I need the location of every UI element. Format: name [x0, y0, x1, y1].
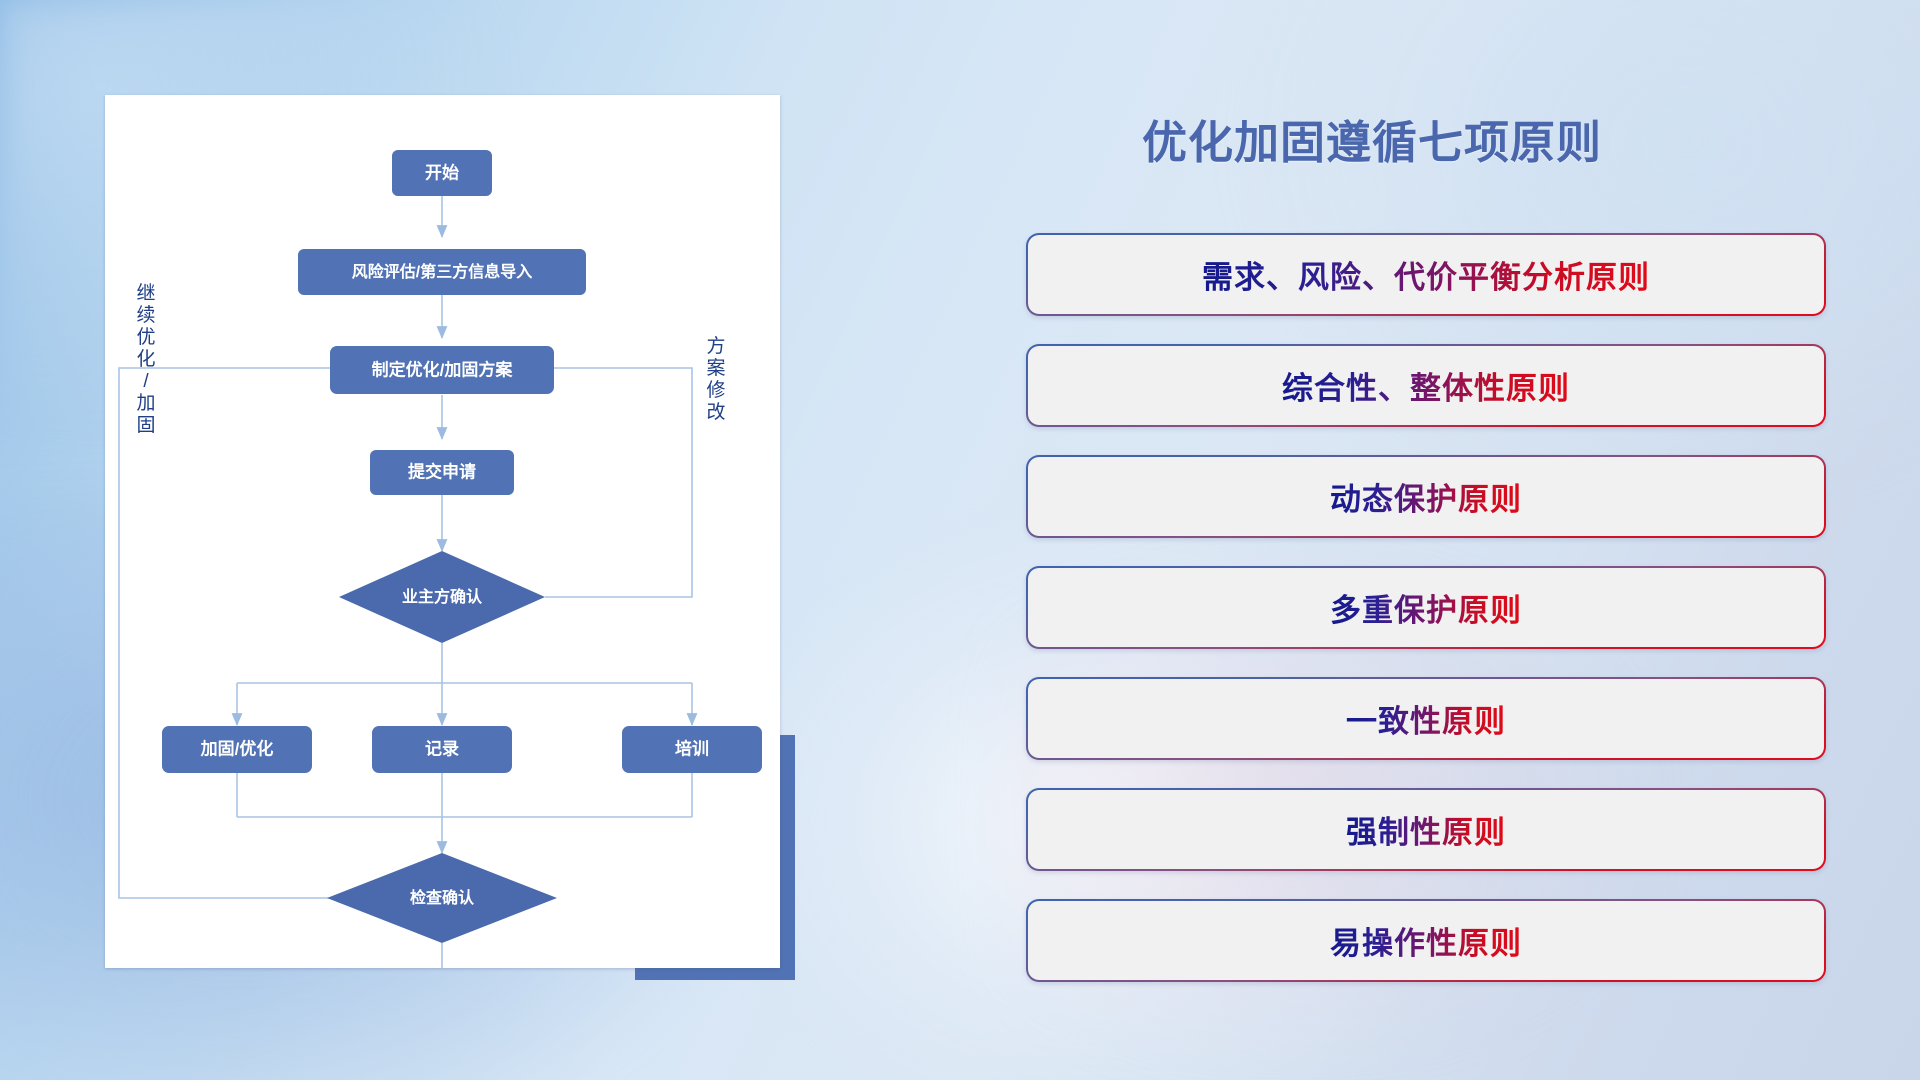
principle-card-7-inner: 易操作性原则 [1028, 901, 1824, 980]
flow-node-start[interactable]: 开始 [392, 150, 492, 196]
principle-card-5-label: 一致性原则 [1346, 696, 1506, 741]
principle-card-5-inner: 一致性原则 [1028, 679, 1824, 758]
principle-card-3-label: 动态保护原则 [1330, 474, 1522, 519]
flow-node-reinforce[interactable]: 加固/优化 [162, 726, 312, 773]
principle-card-4[interactable]: 多重保护原则 [1026, 566, 1826, 649]
flow-node-train[interactable]: 培训 [622, 726, 762, 773]
flow-node-risk[interactable]: 风险评估/第三方信息导入 [298, 249, 586, 295]
flowchart-diagram: 开始 风险评估/第三方信息导入 制定优化/加固方案 提交申请 业主方确认 [105, 95, 780, 968]
flow-connectors [119, 95, 692, 968]
principle-card-1-label: 需求、风险、代价平衡分析原则 [1202, 252, 1650, 297]
principle-card-3[interactable]: 动态保护原则 [1026, 455, 1826, 538]
flow-node-submit-label: 提交申请 [408, 461, 476, 481]
page-title: 优化加固遵循七项原则 [1142, 106, 1602, 171]
principle-card-7[interactable]: 易操作性原则 [1026, 899, 1826, 982]
flowchart-white-card: 开始 风险评估/第三方信息导入 制定优化/加固方案 提交申请 业主方确认 [105, 95, 780, 968]
principle-card-1-inner: 需求、风险、代价平衡分析原则 [1028, 235, 1824, 314]
principle-card-5[interactable]: 一致性原则 [1026, 677, 1826, 760]
principle-card-7-label: 易操作性原则 [1330, 918, 1522, 963]
flow-node-start-label: 开始 [425, 162, 459, 182]
principle-card-4-label: 多重保护原则 [1330, 585, 1522, 630]
principle-card-2-inner: 综合性、整体性原则 [1028, 346, 1824, 425]
principle-card-3-inner: 动态保护原则 [1028, 457, 1824, 536]
flow-node-check-label: 检查确认 [410, 888, 475, 907]
flow-node-record-label: 记录 [425, 739, 459, 758]
flow-node-submit[interactable]: 提交申请 [370, 450, 514, 495]
flow-node-risk-label: 风险评估/第三方信息导入 [352, 262, 532, 281]
principle-card-6-inner: 强制性原则 [1028, 790, 1824, 869]
flow-node-owner-confirm[interactable]: 业主方确认 [339, 551, 545, 643]
flow-node-plan-label: 制定优化/加固方案 [372, 359, 514, 379]
flow-node-check[interactable]: 检查确认 [327, 853, 557, 943]
flow-label-right-loop: 方案修改 [706, 335, 725, 423]
principle-card-4-inner: 多重保护原则 [1028, 568, 1824, 647]
principle-card-1[interactable]: 需求、风险、代价平衡分析原则 [1026, 233, 1826, 316]
principles-panel: 优化加固遵循七项原则 需求、风险、代价平衡分析原则 综合性、整体性原则 动态保护… [1020, 0, 1880, 1080]
principle-card-6-label: 强制性原则 [1346, 807, 1506, 852]
flow-node-owner-confirm-label: 业主方确认 [402, 587, 483, 606]
flow-node-reinforce-label: 加固/优化 [200, 738, 274, 758]
flowchart-panel: 开始 风险评估/第三方信息导入 制定优化/加固方案 提交申请 业主方确认 [105, 95, 805, 995]
principle-card-6[interactable]: 强制性原则 [1026, 788, 1826, 871]
principle-card-2-label: 综合性、整体性原则 [1282, 363, 1570, 408]
flow-node-plan[interactable]: 制定优化/加固方案 [330, 346, 554, 394]
flow-label-left-loop: 继续优化/加固 [136, 282, 155, 436]
principles-list: 需求、风险、代价平衡分析原则 综合性、整体性原则 动态保护原则 多重保护原则 一… [1026, 233, 1826, 1010]
principle-card-2[interactable]: 综合性、整体性原则 [1026, 344, 1826, 427]
flow-node-record[interactable]: 记录 [372, 726, 512, 773]
flow-node-train-label: 培训 [675, 738, 709, 758]
